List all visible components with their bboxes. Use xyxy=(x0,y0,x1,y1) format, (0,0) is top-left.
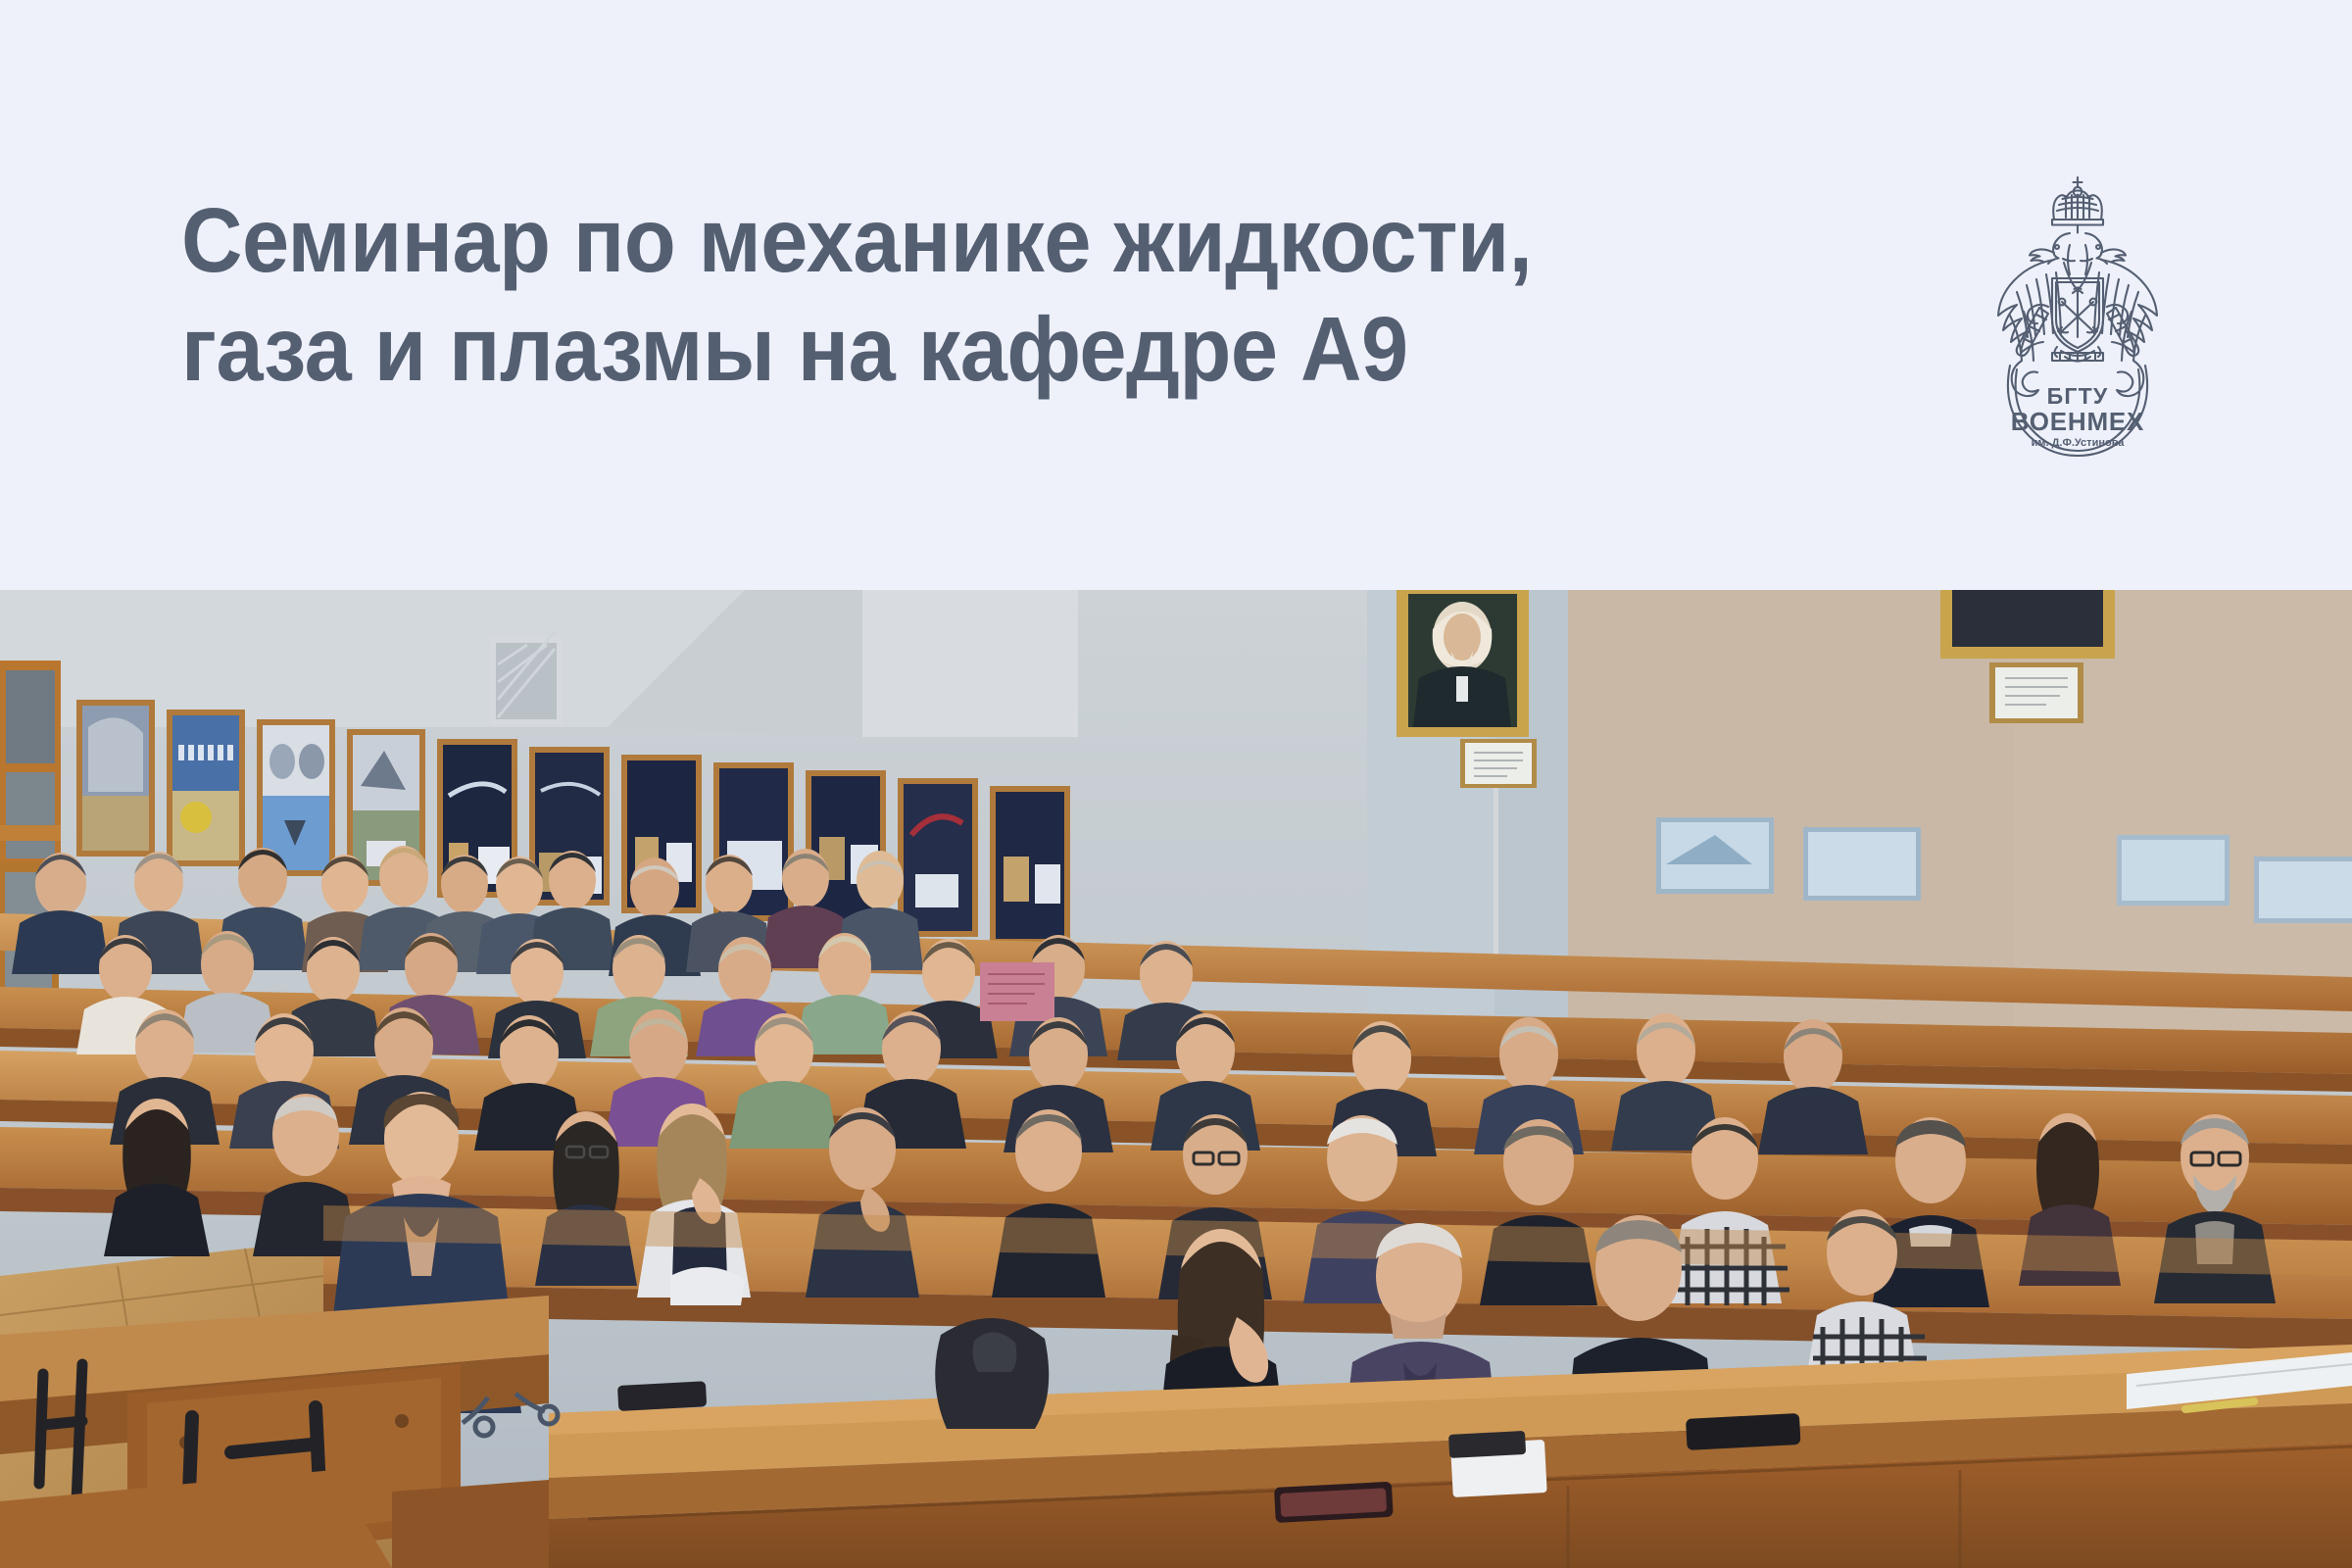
header-banner: Семинар по механике жидкости, газа и пла… xyxy=(0,0,2352,590)
bgtu-voenmeh-logo: БГТУ ВОЕНМЕХ им. Д.Ф.Устинова xyxy=(1955,165,2200,459)
emblem-line-1: БГТУ xyxy=(2047,383,2109,409)
page-title-line-2: газа и плазмы на кафедре А9 xyxy=(181,295,1786,404)
emblem-line-3: им. Д.Ф.Устинова xyxy=(2032,437,2126,449)
announcement-card: Семинар по механике жидкости, газа и пла… xyxy=(0,0,2352,1568)
lecture-hall-illustration xyxy=(0,590,2352,1568)
eagle-emblem-icon: БГТУ ВОЕНМЕХ им. Д.Ф.Устинова xyxy=(1955,165,2200,459)
page-title-line-1: Семинар по механике жидкости, xyxy=(181,186,1786,295)
page-title: Семинар по механике жидкости, газа и пла… xyxy=(181,186,1906,404)
emblem-line-2: ВОЕНМЕХ xyxy=(2011,407,2144,436)
lecture-hall-photo xyxy=(0,590,2352,1568)
